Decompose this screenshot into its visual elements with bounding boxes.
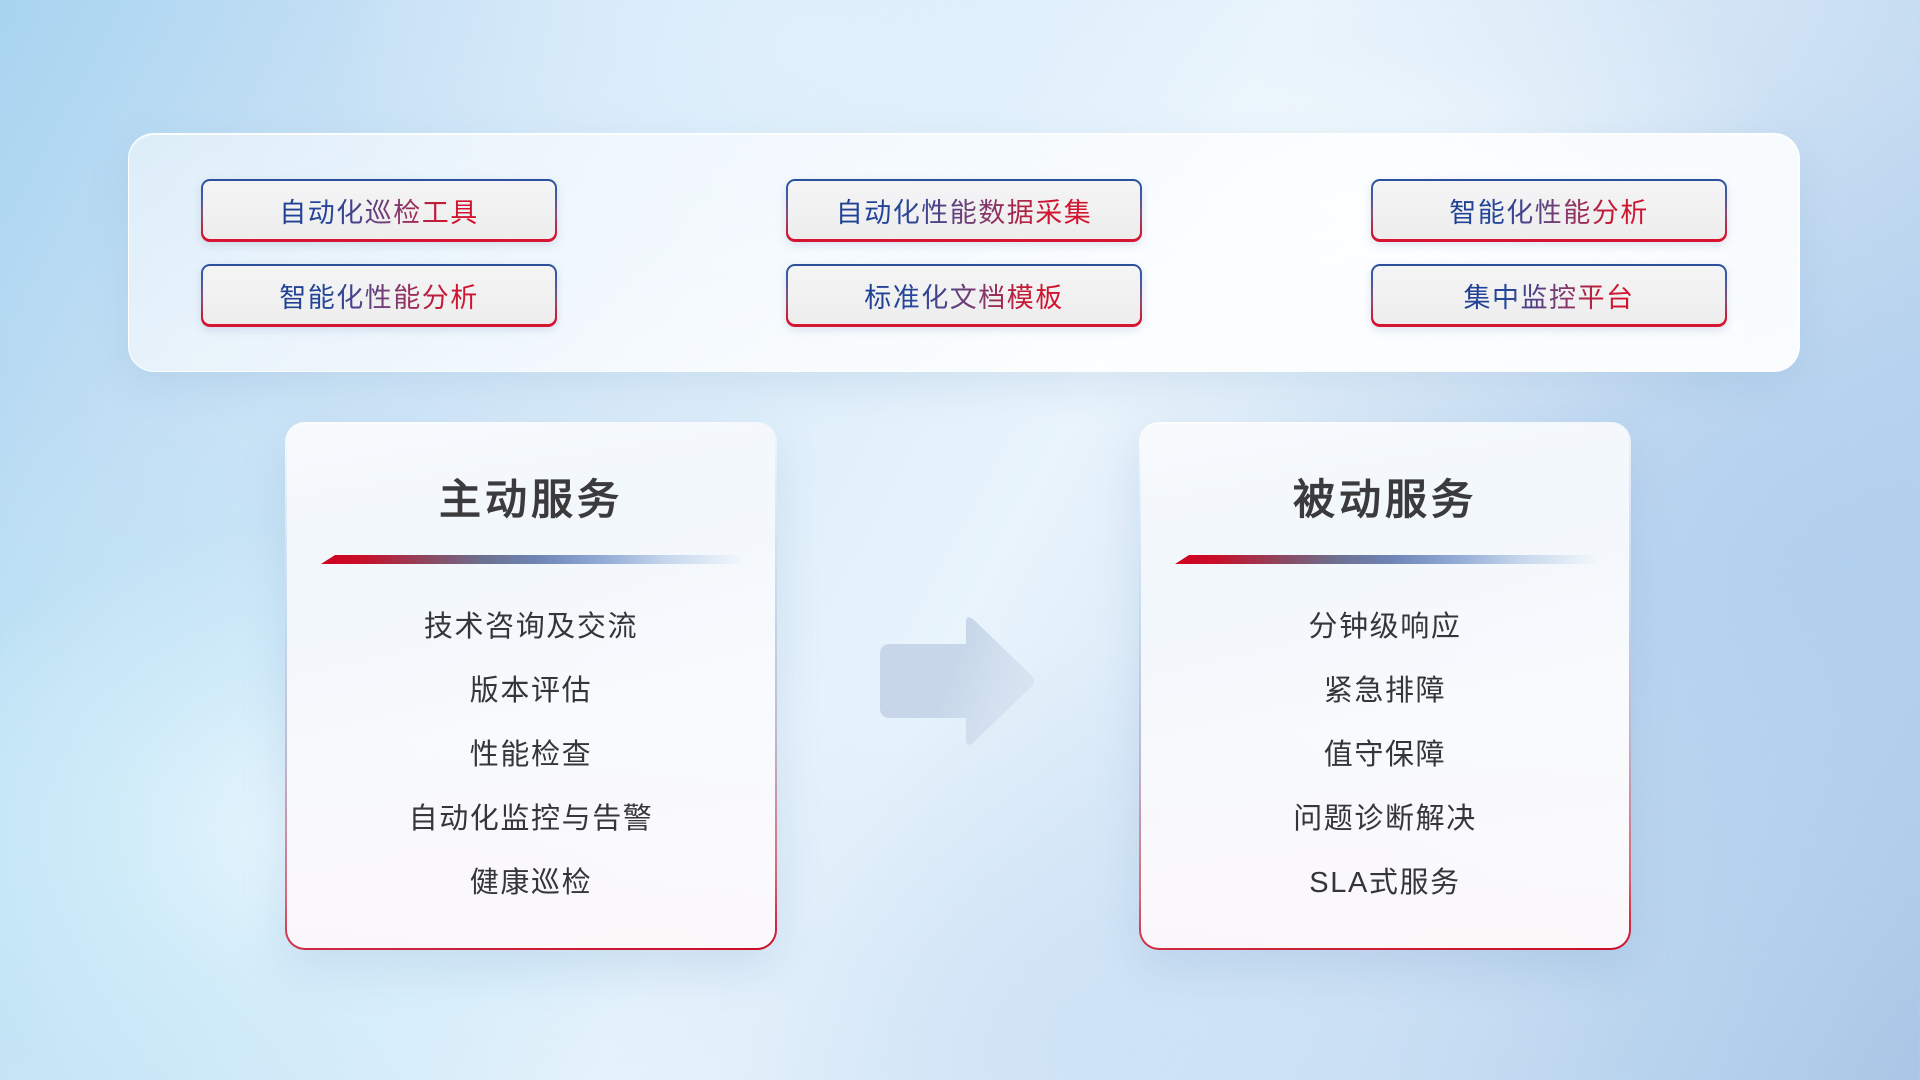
list-item: 自动化监控与告警: [409, 795, 654, 837]
capability-pill-auto-perf-data-collection[interactable]: 自动化性能数据采集: [786, 179, 1142, 242]
capability-pill-label: 智能化性能分析: [1449, 191, 1649, 230]
pill-surface: 标准化文档模板: [788, 266, 1140, 325]
capability-pill-central-monitoring-platform[interactable]: 集中监控平台: [1371, 264, 1727, 327]
capability-pill-smart-perf-analysis-top[interactable]: 智能化性能分析: [1371, 179, 1727, 242]
capability-row-1: 自动化巡检工具 自动化性能数据采集 智能化性能分析: [201, 179, 1727, 242]
card-title: 主动服务: [439, 466, 623, 527]
service-card-reactive[interactable]: 被动服务 分钟级响应 紧急排障 值守保障 问题诊断解决 SLA式服务: [1139, 422, 1631, 950]
pill-surface: 集中监控平台: [1373, 266, 1725, 325]
pill-surface: 智能化性能分析: [203, 266, 555, 325]
list-item: SLA式服务: [1309, 859, 1460, 901]
capability-pill-label: 标准化文档模板: [864, 276, 1064, 315]
capability-pill-smart-perf-analysis-bottom[interactable]: 智能化性能分析: [201, 264, 557, 327]
card-surface: 主动服务 技术咨询及交流 版本评估 性能检查 自动化监控与告警 健康巡检: [287, 424, 775, 948]
capability-pill-label: 智能化性能分析: [279, 276, 479, 315]
service-card-proactive[interactable]: 主动服务 技术咨询及交流 版本评估 性能检查 自动化监控与告警 健康巡检: [285, 422, 777, 950]
capability-pill-label: 自动化巡检工具: [279, 191, 479, 230]
capability-pill-label: 集中监控平台: [1464, 276, 1635, 315]
pill-surface: 自动化巡检工具: [203, 181, 555, 240]
card-item-list: 分钟级响应 紧急排障 值守保障 问题诊断解决 SLA式服务: [1177, 578, 1593, 922]
list-item: 值守保障: [1324, 731, 1446, 773]
card-title-divider: [1175, 555, 1595, 564]
capability-panel: 自动化巡检工具 自动化性能数据采集 智能化性能分析 智能化性能分析 标准化文档模…: [128, 133, 1800, 372]
list-item: 版本评估: [470, 667, 592, 709]
card-item-list: 技术咨询及交流 版本评估 性能检查 自动化监控与告警 健康巡检: [323, 578, 739, 922]
pill-surface: 智能化性能分析: [1373, 181, 1725, 240]
list-item: 分钟级响应: [1308, 603, 1461, 645]
capability-row-2: 智能化性能分析 标准化文档模板 集中监控平台: [201, 264, 1727, 327]
card-surface: 被动服务 分钟级响应 紧急排障 值守保障 问题诊断解决 SLA式服务: [1141, 424, 1629, 948]
list-item: 问题诊断解决: [1293, 795, 1477, 837]
capability-pill-standard-doc-template[interactable]: 标准化文档模板: [786, 264, 1142, 327]
list-item: 性能检查: [470, 731, 592, 773]
list-item: 健康巡检: [470, 859, 592, 901]
card-title: 被动服务: [1293, 466, 1477, 527]
list-item: 技术咨询及交流: [424, 603, 638, 645]
card-title-divider: [321, 555, 741, 564]
pill-surface: 自动化性能数据采集: [788, 181, 1140, 240]
right-arrow-icon: [874, 616, 1036, 748]
list-item: 紧急排障: [1324, 667, 1446, 709]
capability-pill-label: 自动化性能数据采集: [836, 191, 1093, 230]
capability-pill-auto-inspection-tool[interactable]: 自动化巡检工具: [201, 179, 557, 242]
